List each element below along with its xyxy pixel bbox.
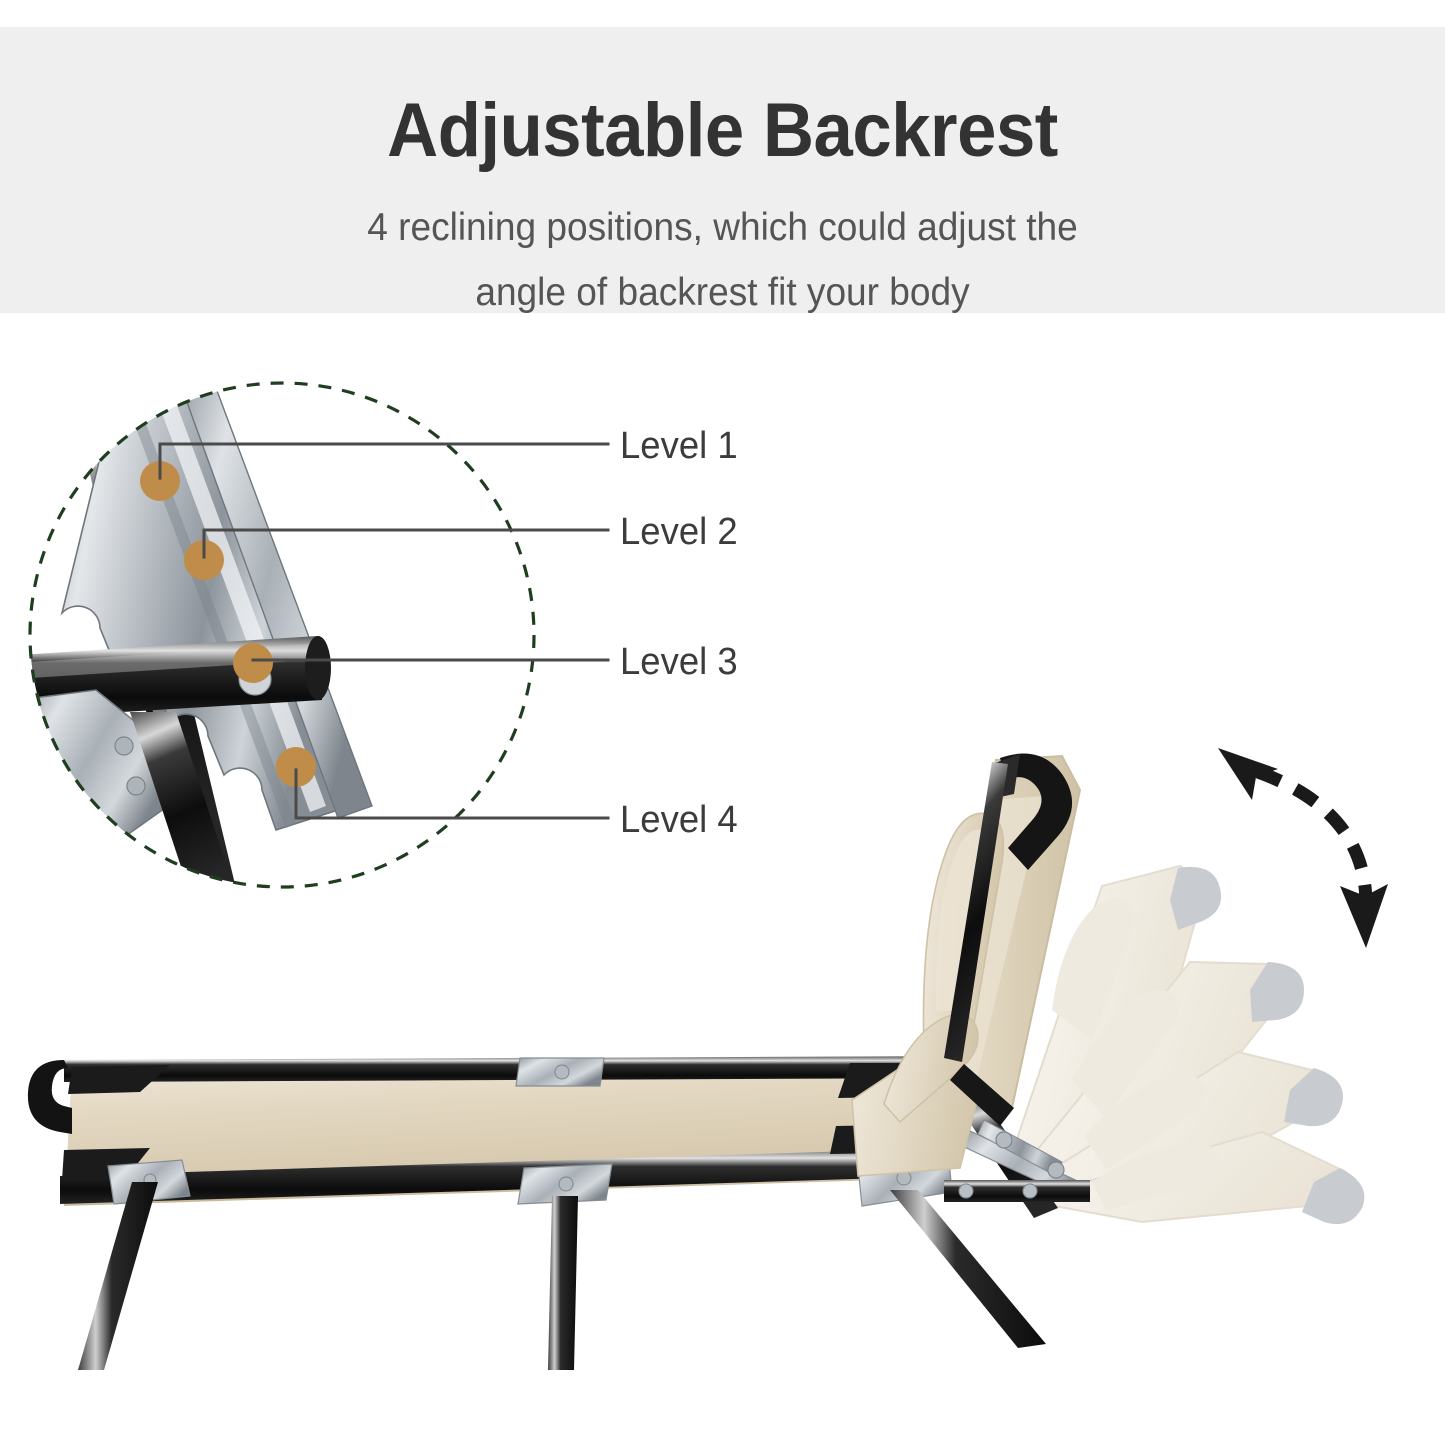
leg-rear-right	[890, 1190, 1046, 1348]
level-2-label: Level 2	[620, 511, 738, 554]
rotation-arrow-curve	[1258, 772, 1366, 908]
level-4-label: Level 4	[620, 799, 738, 842]
level-1-label: Level 1	[620, 425, 738, 468]
product-illustration	[0, 0, 1445, 1445]
legs	[78, 1182, 1046, 1370]
level-3-label: Level 3	[620, 641, 738, 684]
infographic-canvas: Adjustable Backrest 4 reclining position…	[0, 0, 1445, 1445]
callout-photo-content	[18, 372, 550, 905]
backrest-rotation-arrow	[1218, 748, 1388, 948]
leg-front-center	[548, 1196, 578, 1370]
level-3-marker	[233, 643, 273, 683]
leg-front-left	[78, 1182, 158, 1370]
callout-circle-group	[18, 372, 550, 905]
